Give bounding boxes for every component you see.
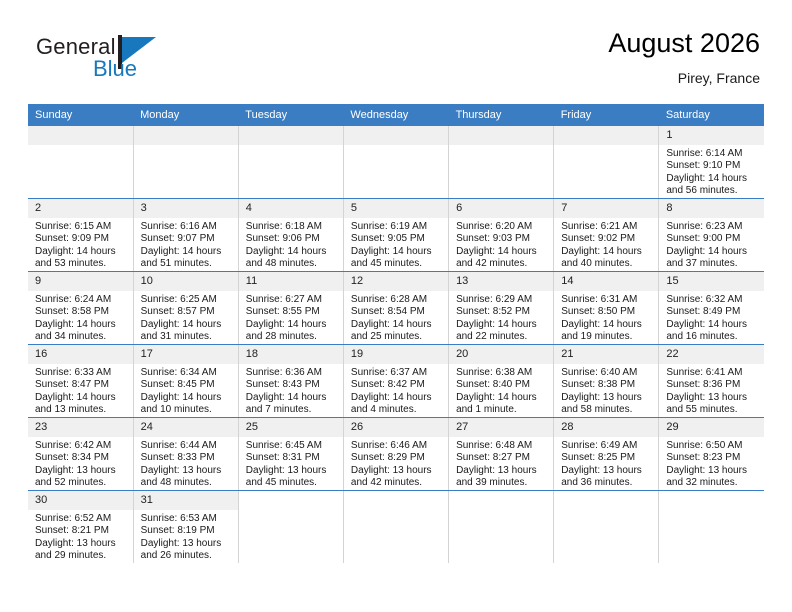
day-details: Sunrise: 6:45 AMSunset: 8:31 PMDaylight:… bbox=[239, 437, 343, 490]
calendar-day-cell[interactable]: 20Sunrise: 6:38 AMSunset: 8:40 PMDayligh… bbox=[449, 345, 554, 418]
day-details: Sunrise: 6:14 AMSunset: 9:10 PMDaylight:… bbox=[659, 145, 764, 198]
day-details: Sunrise: 6:31 AMSunset: 8:50 PMDaylight:… bbox=[554, 291, 658, 344]
day-number: 28 bbox=[554, 418, 658, 437]
calendar-day-cell[interactable]: 28Sunrise: 6:49 AMSunset: 8:25 PMDayligh… bbox=[554, 418, 659, 491]
day-details: Sunrise: 6:49 AMSunset: 8:25 PMDaylight:… bbox=[554, 437, 658, 490]
sunrise-time: Sunrise: 6:21 AM bbox=[561, 221, 654, 233]
daylight-duration-line-1: Daylight: 13 hours bbox=[35, 538, 129, 550]
day-details: Sunrise: 6:16 AMSunset: 9:07 PMDaylight:… bbox=[134, 218, 238, 271]
calendar-day-cell[interactable]: 15Sunrise: 6:32 AMSunset: 8:49 PMDayligh… bbox=[659, 272, 764, 345]
daylight-duration-line-1: Daylight: 13 hours bbox=[351, 465, 444, 477]
day-number: 26 bbox=[344, 418, 448, 437]
calendar-day-cell[interactable]: 3Sunrise: 6:16 AMSunset: 9:07 PMDaylight… bbox=[133, 199, 238, 272]
sunrise-time: Sunrise: 6:19 AM bbox=[351, 221, 444, 233]
sunrise-time: Sunrise: 6:50 AM bbox=[666, 440, 760, 452]
sunrise-time: Sunrise: 6:34 AM bbox=[141, 367, 234, 379]
daylight-duration-line-2: and 53 minutes. bbox=[35, 258, 129, 270]
sunrise-time: Sunrise: 6:32 AM bbox=[666, 294, 760, 306]
daylight-duration-line-1: Daylight: 14 hours bbox=[561, 319, 654, 331]
day-number: 29 bbox=[659, 418, 764, 437]
brand-logo[interactable]: General Blue bbox=[36, 34, 236, 94]
sunrise-time: Sunrise: 6:46 AM bbox=[351, 440, 444, 452]
daylight-duration-line-1: Daylight: 14 hours bbox=[35, 392, 129, 404]
sunset-time: Sunset: 8:43 PM bbox=[246, 379, 339, 391]
calendar-day-cell[interactable]: 31Sunrise: 6:53 AMSunset: 8:19 PMDayligh… bbox=[133, 491, 238, 564]
day-number: 18 bbox=[239, 345, 343, 364]
calendar-day-cell[interactable] bbox=[449, 491, 554, 564]
sunrise-time: Sunrise: 6:49 AM bbox=[561, 440, 654, 452]
calendar-day-cell[interactable]: 22Sunrise: 6:41 AMSunset: 8:36 PMDayligh… bbox=[659, 345, 764, 418]
weekday-header-friday: Friday bbox=[554, 104, 659, 126]
day-details: Sunrise: 6:19 AMSunset: 9:05 PMDaylight:… bbox=[344, 218, 448, 271]
sunset-time: Sunset: 8:45 PM bbox=[141, 379, 234, 391]
day-details: Sunrise: 6:23 AMSunset: 9:00 PMDaylight:… bbox=[659, 218, 764, 271]
sunset-time: Sunset: 8:29 PM bbox=[351, 452, 444, 464]
day-number: 11 bbox=[239, 272, 343, 291]
calendar-day-cell[interactable]: 9Sunrise: 6:24 AMSunset: 8:58 PMDaylight… bbox=[28, 272, 133, 345]
daylight-duration-line-2: and 32 minutes. bbox=[666, 477, 760, 489]
sunrise-time: Sunrise: 6:36 AM bbox=[246, 367, 339, 379]
day-number: 17 bbox=[134, 345, 238, 364]
daylight-duration-line-2: and 58 minutes. bbox=[561, 404, 654, 416]
sunrise-time: Sunrise: 6:15 AM bbox=[35, 221, 129, 233]
daylight-duration-line-2: and 28 minutes. bbox=[246, 331, 339, 343]
sunrise-time: Sunrise: 6:44 AM bbox=[141, 440, 234, 452]
day-number: 25 bbox=[239, 418, 343, 437]
calendar-week-row: 1Sunrise: 6:14 AMSunset: 9:10 PMDaylight… bbox=[28, 126, 764, 199]
day-number bbox=[134, 126, 238, 145]
daylight-duration-line-2: and 51 minutes. bbox=[141, 258, 234, 270]
daylight-duration-line-2: and 45 minutes. bbox=[351, 258, 444, 270]
sunrise-time: Sunrise: 6:20 AM bbox=[456, 221, 549, 233]
day-number: 6 bbox=[449, 199, 553, 218]
calendar-day-cell[interactable]: 10Sunrise: 6:25 AMSunset: 8:57 PMDayligh… bbox=[133, 272, 238, 345]
sunrise-time: Sunrise: 6:48 AM bbox=[456, 440, 549, 452]
calendar-day-cell[interactable]: 25Sunrise: 6:45 AMSunset: 8:31 PMDayligh… bbox=[238, 418, 343, 491]
day-details: Sunrise: 6:46 AMSunset: 8:29 PMDaylight:… bbox=[344, 437, 448, 490]
sunset-time: Sunset: 8:23 PM bbox=[666, 452, 760, 464]
day-details: Sunrise: 6:52 AMSunset: 8:21 PMDaylight:… bbox=[28, 510, 133, 563]
daylight-duration-line-1: Daylight: 14 hours bbox=[35, 319, 129, 331]
daylight-duration-line-2: and 26 minutes. bbox=[141, 550, 234, 562]
sunset-time: Sunset: 9:09 PM bbox=[35, 233, 129, 245]
sunset-time: Sunset: 8:31 PM bbox=[246, 452, 339, 464]
daylight-duration-line-1: Daylight: 14 hours bbox=[141, 392, 234, 404]
calendar-day-cell[interactable]: 19Sunrise: 6:37 AMSunset: 8:42 PMDayligh… bbox=[343, 345, 448, 418]
calendar-day-cell[interactable] bbox=[343, 491, 448, 564]
day-number bbox=[344, 491, 448, 510]
daylight-duration-line-2: and 29 minutes. bbox=[35, 550, 129, 562]
calendar-day-cell[interactable] bbox=[659, 491, 764, 564]
weekday-header-wednesday: Wednesday bbox=[343, 104, 448, 126]
daylight-duration-line-1: Daylight: 14 hours bbox=[351, 392, 444, 404]
daylight-duration-line-2: and 39 minutes. bbox=[456, 477, 549, 489]
sunset-time: Sunset: 8:54 PM bbox=[351, 306, 444, 318]
daylight-duration-line-1: Daylight: 14 hours bbox=[246, 246, 339, 258]
calendar-week-row: 16Sunrise: 6:33 AMSunset: 8:47 PMDayligh… bbox=[28, 345, 764, 418]
daylight-duration-line-1: Daylight: 14 hours bbox=[561, 246, 654, 258]
weekday-header-thursday: Thursday bbox=[449, 104, 554, 126]
sunrise-time: Sunrise: 6:45 AM bbox=[246, 440, 339, 452]
daylight-duration-line-2: and 4 minutes. bbox=[351, 404, 444, 416]
sunset-time: Sunset: 8:55 PM bbox=[246, 306, 339, 318]
sunrise-time: Sunrise: 6:28 AM bbox=[351, 294, 444, 306]
sunset-time: Sunset: 8:21 PM bbox=[35, 525, 129, 537]
daylight-duration-line-1: Daylight: 13 hours bbox=[666, 392, 760, 404]
calendar-day-cell[interactable]: 4Sunrise: 6:18 AMSunset: 9:06 PMDaylight… bbox=[238, 199, 343, 272]
daylight-duration-line-1: Daylight: 14 hours bbox=[456, 319, 549, 331]
weekday-header-monday: Monday bbox=[133, 104, 238, 126]
sunset-time: Sunset: 8:50 PM bbox=[561, 306, 654, 318]
calendar-day-cell[interactable]: 14Sunrise: 6:31 AMSunset: 8:50 PMDayligh… bbox=[554, 272, 659, 345]
day-number bbox=[28, 126, 133, 145]
calendar-week-row: 23Sunrise: 6:42 AMSunset: 8:34 PMDayligh… bbox=[28, 418, 764, 491]
daylight-duration-line-1: Daylight: 13 hours bbox=[561, 392, 654, 404]
day-details: Sunrise: 6:34 AMSunset: 8:45 PMDaylight:… bbox=[134, 364, 238, 417]
page-subtitle-location: Pirey, France bbox=[608, 68, 760, 88]
day-number: 20 bbox=[449, 345, 553, 364]
day-number: 1 bbox=[659, 126, 764, 145]
day-details: Sunrise: 6:38 AMSunset: 8:40 PMDaylight:… bbox=[449, 364, 553, 417]
sunrise-time: Sunrise: 6:53 AM bbox=[141, 513, 234, 525]
sunset-time: Sunset: 8:34 PM bbox=[35, 452, 129, 464]
calendar-day-cell[interactable]: 1Sunrise: 6:14 AMSunset: 9:10 PMDaylight… bbox=[659, 126, 764, 199]
daylight-duration-line-2: and 10 minutes. bbox=[141, 404, 234, 416]
daylight-duration-line-1: Daylight: 14 hours bbox=[351, 246, 444, 258]
sunrise-sunset-calendar-table: Sunday Monday Tuesday Wednesday Thursday… bbox=[28, 104, 764, 563]
daylight-duration-line-2: and 16 minutes. bbox=[666, 331, 760, 343]
day-details: Sunrise: 6:33 AMSunset: 8:47 PMDaylight:… bbox=[28, 364, 133, 417]
day-number bbox=[449, 126, 553, 145]
day-number: 31 bbox=[134, 491, 238, 510]
weekday-header-row: Sunday Monday Tuesday Wednesday Thursday… bbox=[28, 104, 764, 126]
daylight-duration-line-1: Daylight: 14 hours bbox=[141, 319, 234, 331]
sunset-time: Sunset: 8:36 PM bbox=[666, 379, 760, 391]
calendar-body: 1Sunrise: 6:14 AMSunset: 9:10 PMDaylight… bbox=[28, 126, 764, 563]
day-number: 27 bbox=[449, 418, 553, 437]
calendar-day-cell[interactable] bbox=[554, 126, 659, 199]
weekday-header-saturday: Saturday bbox=[659, 104, 764, 126]
day-details: Sunrise: 6:21 AMSunset: 9:02 PMDaylight:… bbox=[554, 218, 658, 271]
day-number bbox=[239, 491, 343, 510]
day-number: 22 bbox=[659, 345, 764, 364]
calendar-day-cell[interactable]: 30Sunrise: 6:52 AMSunset: 8:21 PMDayligh… bbox=[28, 491, 133, 564]
sunrise-time: Sunrise: 6:33 AM bbox=[35, 367, 129, 379]
day-details: Sunrise: 6:29 AMSunset: 8:52 PMDaylight:… bbox=[449, 291, 553, 344]
calendar-day-cell[interactable]: 18Sunrise: 6:36 AMSunset: 8:43 PMDayligh… bbox=[238, 345, 343, 418]
sunrise-time: Sunrise: 6:14 AM bbox=[666, 148, 760, 160]
day-details: Sunrise: 6:37 AMSunset: 8:42 PMDaylight:… bbox=[344, 364, 448, 417]
day-details: Sunrise: 6:50 AMSunset: 8:23 PMDaylight:… bbox=[659, 437, 764, 490]
day-details: Sunrise: 6:20 AMSunset: 9:03 PMDaylight:… bbox=[449, 218, 553, 271]
day-number: 2 bbox=[28, 199, 133, 218]
calendar-day-cell[interactable] bbox=[238, 491, 343, 564]
calendar-day-cell[interactable]: 24Sunrise: 6:44 AMSunset: 8:33 PMDayligh… bbox=[133, 418, 238, 491]
calendar-day-cell[interactable]: 29Sunrise: 6:50 AMSunset: 8:23 PMDayligh… bbox=[659, 418, 764, 491]
weekday-header-sunday: Sunday bbox=[28, 104, 133, 126]
calendar-day-cell[interactable]: 5Sunrise: 6:19 AMSunset: 9:05 PMDaylight… bbox=[343, 199, 448, 272]
day-number: 13 bbox=[449, 272, 553, 291]
daylight-duration-line-2: and 56 minutes. bbox=[666, 185, 760, 197]
calendar-week-row: 30Sunrise: 6:52 AMSunset: 8:21 PMDayligh… bbox=[28, 491, 764, 564]
weekday-header-tuesday: Tuesday bbox=[238, 104, 343, 126]
sunset-time: Sunset: 8:58 PM bbox=[35, 306, 129, 318]
daylight-duration-line-2: and 13 minutes. bbox=[35, 404, 129, 416]
day-number: 3 bbox=[134, 199, 238, 218]
daylight-duration-line-1: Daylight: 14 hours bbox=[456, 246, 549, 258]
daylight-duration-line-1: Daylight: 14 hours bbox=[351, 319, 444, 331]
calendar-day-cell[interactable] bbox=[343, 126, 448, 199]
calendar-day-cell[interactable]: 23Sunrise: 6:42 AMSunset: 8:34 PMDayligh… bbox=[28, 418, 133, 491]
daylight-duration-line-1: Daylight: 13 hours bbox=[35, 465, 129, 477]
daylight-duration-line-2: and 42 minutes. bbox=[351, 477, 444, 489]
sunset-time: Sunset: 9:00 PM bbox=[666, 233, 760, 245]
day-number bbox=[554, 126, 658, 145]
calendar-day-cell[interactable]: 6Sunrise: 6:20 AMSunset: 9:03 PMDaylight… bbox=[449, 199, 554, 272]
day-details: Sunrise: 6:28 AMSunset: 8:54 PMDaylight:… bbox=[344, 291, 448, 344]
sunrise-time: Sunrise: 6:37 AM bbox=[351, 367, 444, 379]
day-number: 4 bbox=[239, 199, 343, 218]
sunrise-time: Sunrise: 6:29 AM bbox=[456, 294, 549, 306]
sunrise-time: Sunrise: 6:52 AM bbox=[35, 513, 129, 525]
sunset-time: Sunset: 8:33 PM bbox=[141, 452, 234, 464]
daylight-duration-line-2: and 48 minutes. bbox=[141, 477, 234, 489]
daylight-duration-line-1: Daylight: 13 hours bbox=[666, 465, 760, 477]
calendar-day-cell[interactable] bbox=[238, 126, 343, 199]
day-number bbox=[554, 491, 658, 510]
calendar-day-cell[interactable] bbox=[28, 126, 133, 199]
daylight-duration-line-2: and 22 minutes. bbox=[456, 331, 549, 343]
sunrise-time: Sunrise: 6:23 AM bbox=[666, 221, 760, 233]
calendar-day-cell[interactable]: 13Sunrise: 6:29 AMSunset: 8:52 PMDayligh… bbox=[449, 272, 554, 345]
daylight-duration-line-1: Daylight: 13 hours bbox=[141, 465, 234, 477]
sunrise-time: Sunrise: 6:18 AM bbox=[246, 221, 339, 233]
daylight-duration-line-1: Daylight: 14 hours bbox=[246, 319, 339, 331]
day-details: Sunrise: 6:27 AMSunset: 8:55 PMDaylight:… bbox=[239, 291, 343, 344]
calendar-day-cell[interactable]: 7Sunrise: 6:21 AMSunset: 9:02 PMDaylight… bbox=[554, 199, 659, 272]
sunset-time: Sunset: 8:25 PM bbox=[561, 452, 654, 464]
calendar-day-cell[interactable] bbox=[133, 126, 238, 199]
sunrise-time: Sunrise: 6:24 AM bbox=[35, 294, 129, 306]
sunset-time: Sunset: 8:38 PM bbox=[561, 379, 654, 391]
calendar-day-cell[interactable]: 26Sunrise: 6:46 AMSunset: 8:29 PMDayligh… bbox=[343, 418, 448, 491]
sunset-time: Sunset: 9:03 PM bbox=[456, 233, 549, 245]
calendar-day-cell[interactable]: 11Sunrise: 6:27 AMSunset: 8:55 PMDayligh… bbox=[238, 272, 343, 345]
daylight-duration-line-2: and 37 minutes. bbox=[666, 258, 760, 270]
sunset-time: Sunset: 8:27 PM bbox=[456, 452, 549, 464]
sunset-time: Sunset: 8:49 PM bbox=[666, 306, 760, 318]
daylight-duration-line-2: and 55 minutes. bbox=[666, 404, 760, 416]
day-details: Sunrise: 6:48 AMSunset: 8:27 PMDaylight:… bbox=[449, 437, 553, 490]
sunset-time: Sunset: 8:47 PM bbox=[35, 379, 129, 391]
daylight-duration-line-2: and 40 minutes. bbox=[561, 258, 654, 270]
sunset-time: Sunset: 8:42 PM bbox=[351, 379, 444, 391]
daylight-duration-line-2: and 42 minutes. bbox=[456, 258, 549, 270]
day-number: 5 bbox=[344, 199, 448, 218]
calendar-day-cell[interactable]: 27Sunrise: 6:48 AMSunset: 8:27 PMDayligh… bbox=[449, 418, 554, 491]
calendar-day-cell[interactable]: 12Sunrise: 6:28 AMSunset: 8:54 PMDayligh… bbox=[343, 272, 448, 345]
page-header: General Blue August 2026 Pirey, France bbox=[28, 26, 764, 100]
day-number: 24 bbox=[134, 418, 238, 437]
daylight-duration-line-2: and 31 minutes. bbox=[141, 331, 234, 343]
logo-text-blue: Blue bbox=[93, 56, 137, 82]
calendar-day-cell[interactable]: 2Sunrise: 6:15 AMSunset: 9:09 PMDaylight… bbox=[28, 199, 133, 272]
calendar-day-cell[interactable]: 17Sunrise: 6:34 AMSunset: 8:45 PMDayligh… bbox=[133, 345, 238, 418]
daylight-duration-line-2: and 7 minutes. bbox=[246, 404, 339, 416]
day-number: 21 bbox=[554, 345, 658, 364]
calendar-week-row: 9Sunrise: 6:24 AMSunset: 8:58 PMDaylight… bbox=[28, 272, 764, 345]
day-details: Sunrise: 6:32 AMSunset: 8:49 PMDaylight:… bbox=[659, 291, 764, 344]
day-number: 30 bbox=[28, 491, 133, 510]
daylight-duration-line-1: Daylight: 14 hours bbox=[246, 392, 339, 404]
daylight-duration-line-1: Daylight: 13 hours bbox=[246, 465, 339, 477]
day-number: 23 bbox=[28, 418, 133, 437]
daylight-duration-line-2: and 36 minutes. bbox=[561, 477, 654, 489]
day-details: Sunrise: 6:25 AMSunset: 8:57 PMDaylight:… bbox=[134, 291, 238, 344]
daylight-duration-line-2: and 34 minutes. bbox=[35, 331, 129, 343]
page-title: August 2026 bbox=[608, 26, 760, 60]
daylight-duration-line-2: and 45 minutes. bbox=[246, 477, 339, 489]
day-number bbox=[239, 126, 343, 145]
day-details: Sunrise: 6:44 AMSunset: 8:33 PMDaylight:… bbox=[134, 437, 238, 490]
daylight-duration-line-2: and 52 minutes. bbox=[35, 477, 129, 489]
day-number: 10 bbox=[134, 272, 238, 291]
day-number: 16 bbox=[28, 345, 133, 364]
day-details: Sunrise: 6:53 AMSunset: 8:19 PMDaylight:… bbox=[134, 510, 238, 563]
sunrise-time: Sunrise: 6:40 AM bbox=[561, 367, 654, 379]
day-details: Sunrise: 6:24 AMSunset: 8:58 PMDaylight:… bbox=[28, 291, 133, 344]
calendar-page: General Blue August 2026 Pirey, France S… bbox=[0, 0, 792, 612]
sunrise-time: Sunrise: 6:38 AM bbox=[456, 367, 549, 379]
day-number: 14 bbox=[554, 272, 658, 291]
day-number: 12 bbox=[344, 272, 448, 291]
day-details: Sunrise: 6:42 AMSunset: 8:34 PMDaylight:… bbox=[28, 437, 133, 490]
sunset-time: Sunset: 9:06 PM bbox=[246, 233, 339, 245]
day-details: Sunrise: 6:18 AMSunset: 9:06 PMDaylight:… bbox=[239, 218, 343, 271]
daylight-duration-line-2: and 25 minutes. bbox=[351, 331, 444, 343]
sunset-time: Sunset: 9:02 PM bbox=[561, 233, 654, 245]
sunrise-time: Sunrise: 6:42 AM bbox=[35, 440, 129, 452]
sunset-time: Sunset: 9:05 PM bbox=[351, 233, 444, 245]
sunset-time: Sunset: 8:40 PM bbox=[456, 379, 549, 391]
sunrise-time: Sunrise: 6:16 AM bbox=[141, 221, 234, 233]
day-number: 9 bbox=[28, 272, 133, 291]
calendar-day-cell[interactable] bbox=[554, 491, 659, 564]
day-number bbox=[449, 491, 553, 510]
day-number bbox=[344, 126, 448, 145]
sunset-time: Sunset: 9:07 PM bbox=[141, 233, 234, 245]
sunset-time: Sunset: 8:52 PM bbox=[456, 306, 549, 318]
sunrise-time: Sunrise: 6:25 AM bbox=[141, 294, 234, 306]
day-number: 15 bbox=[659, 272, 764, 291]
sunset-time: Sunset: 8:57 PM bbox=[141, 306, 234, 318]
daylight-duration-line-1: Daylight: 14 hours bbox=[35, 246, 129, 258]
daylight-duration-line-1: Daylight: 14 hours bbox=[141, 246, 234, 258]
daylight-duration-line-1: Daylight: 14 hours bbox=[666, 173, 760, 185]
sunset-time: Sunset: 8:19 PM bbox=[141, 525, 234, 537]
daylight-duration-line-1: Daylight: 14 hours bbox=[456, 392, 549, 404]
day-number: 19 bbox=[344, 345, 448, 364]
sunrise-time: Sunrise: 6:27 AM bbox=[246, 294, 339, 306]
calendar-day-cell[interactable]: 21Sunrise: 6:40 AMSunset: 8:38 PMDayligh… bbox=[554, 345, 659, 418]
title-block: August 2026 Pirey, France bbox=[608, 26, 760, 88]
day-details: Sunrise: 6:40 AMSunset: 8:38 PMDaylight:… bbox=[554, 364, 658, 417]
daylight-duration-line-2: and 19 minutes. bbox=[561, 331, 654, 343]
day-number: 8 bbox=[659, 199, 764, 218]
daylight-duration-line-1: Daylight: 13 hours bbox=[561, 465, 654, 477]
sunrise-time: Sunrise: 6:31 AM bbox=[561, 294, 654, 306]
day-details: Sunrise: 6:36 AMSunset: 8:43 PMDaylight:… bbox=[239, 364, 343, 417]
sunset-time: Sunset: 9:10 PM bbox=[666, 160, 760, 172]
daylight-duration-line-2: and 1 minute. bbox=[456, 404, 549, 416]
daylight-duration-line-1: Daylight: 13 hours bbox=[456, 465, 549, 477]
sunrise-time: Sunrise: 6:41 AM bbox=[666, 367, 760, 379]
calendar-day-cell[interactable]: 16Sunrise: 6:33 AMSunset: 8:47 PMDayligh… bbox=[28, 345, 133, 418]
day-number: 7 bbox=[554, 199, 658, 218]
calendar-day-cell[interactable]: 8Sunrise: 6:23 AMSunset: 9:00 PMDaylight… bbox=[659, 199, 764, 272]
day-details: Sunrise: 6:15 AMSunset: 9:09 PMDaylight:… bbox=[28, 218, 133, 271]
calendar-day-cell[interactable] bbox=[449, 126, 554, 199]
day-details: Sunrise: 6:41 AMSunset: 8:36 PMDaylight:… bbox=[659, 364, 764, 417]
daylight-duration-line-1: Daylight: 14 hours bbox=[666, 319, 760, 331]
daylight-duration-line-1: Daylight: 14 hours bbox=[666, 246, 760, 258]
calendar-week-row: 2Sunrise: 6:15 AMSunset: 9:09 PMDaylight… bbox=[28, 199, 764, 272]
daylight-duration-line-2: and 48 minutes. bbox=[246, 258, 339, 270]
daylight-duration-line-1: Daylight: 13 hours bbox=[141, 538, 234, 550]
day-number bbox=[659, 491, 764, 510]
